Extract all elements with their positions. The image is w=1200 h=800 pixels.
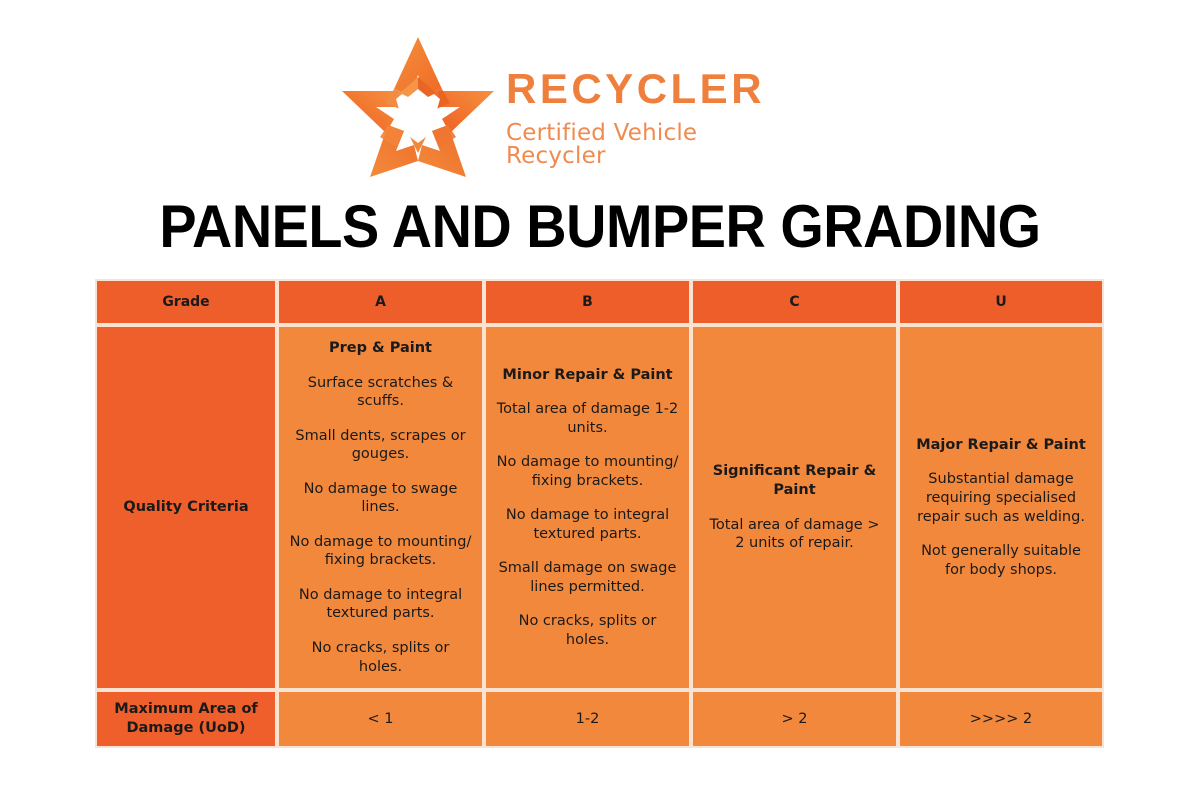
cell-uod-c: > 2 (691, 690, 898, 748)
cell-line: Not generally suitable for body shops. (910, 542, 1092, 579)
cell-criteria-a: Prep & Paint Surface scratches & scuffs.… (277, 325, 484, 690)
cell-criteria-u: Major Repair & Paint Substantial damage … (898, 325, 1104, 690)
cell-heading-a: Prep & Paint (289, 339, 472, 358)
cell-line: No damage to integral textured parts. (289, 586, 472, 623)
cell-criteria-c: Significant Repair & Paint Total area of… (691, 325, 898, 690)
grading-table: Grade A B C U Quality Criteria Prep & Pa… (95, 279, 1104, 748)
brand-logo: RECYCLER Certified Vehicle Recycler (338, 32, 768, 182)
cell-heading-c: Significant Repair & Paint (703, 462, 886, 499)
cell-line: Total area of damage 1-2 units. (496, 400, 679, 437)
cell-line: Surface scratches & scuffs. (289, 374, 472, 411)
brand-tagline: Certified Vehicle Recycler (506, 122, 768, 168)
cell-uod-u: >>>> 2 (898, 690, 1104, 748)
cell-line: No damage to mounting/ fixing brackets. (496, 453, 679, 490)
row-label-quality-criteria: Quality Criteria (95, 325, 277, 690)
cell-uod-b: 1-2 (484, 690, 691, 748)
header-grade-u: U (898, 279, 1104, 325)
cell-line: Total area of damage > 2 units of repair… (703, 516, 886, 553)
grading-poster: RECYCLER Certified Vehicle Recycler PANE… (0, 0, 1200, 800)
cell-line: No cracks, splits or holes. (289, 639, 472, 676)
page-title: PANELS AND BUMPER GRADING (42, 192, 1158, 261)
row-label-max-area-of-damage: Maximum Area of Damage (UoD) (95, 690, 277, 748)
table-row-max-area-of-damage: Maximum Area of Damage (UoD) < 1 1-2 > 2… (95, 690, 1104, 748)
cell-line: Substantial damage requiring specialised… (910, 470, 1092, 526)
cell-line: No damage to mounting/ fixing brackets. (289, 533, 472, 570)
cell-line: No damage to swage lines. (289, 480, 472, 517)
header-grade-b: B (484, 279, 691, 325)
brand-wordmark: RECYCLER Certified Vehicle Recycler (506, 46, 768, 168)
header-grade-c: C (691, 279, 898, 325)
table-header-row: Grade A B C U (95, 279, 1104, 325)
recycling-star-logo-icon (338, 33, 498, 181)
table-row-quality-criteria: Quality Criteria Prep & Paint Surface sc… (95, 325, 1104, 690)
header-grade-a: A (277, 279, 484, 325)
header-grade: Grade (95, 279, 277, 325)
cell-heading-b: Minor Repair & Paint (496, 366, 679, 385)
cell-uod-a: < 1 (277, 690, 484, 748)
cell-line: No cracks, splits or holes. (496, 612, 679, 649)
cell-line: Small dents, scrapes or gouges. (289, 427, 472, 464)
cell-line: No damage to integral textured parts. (496, 506, 679, 543)
cell-heading-u: Major Repair & Paint (910, 436, 1092, 455)
cell-criteria-b: Minor Repair & Paint Total area of damag… (484, 325, 691, 690)
brand-name: RECYCLER (506, 68, 768, 110)
cell-line: Small damage on swage lines permitted. (496, 559, 679, 596)
